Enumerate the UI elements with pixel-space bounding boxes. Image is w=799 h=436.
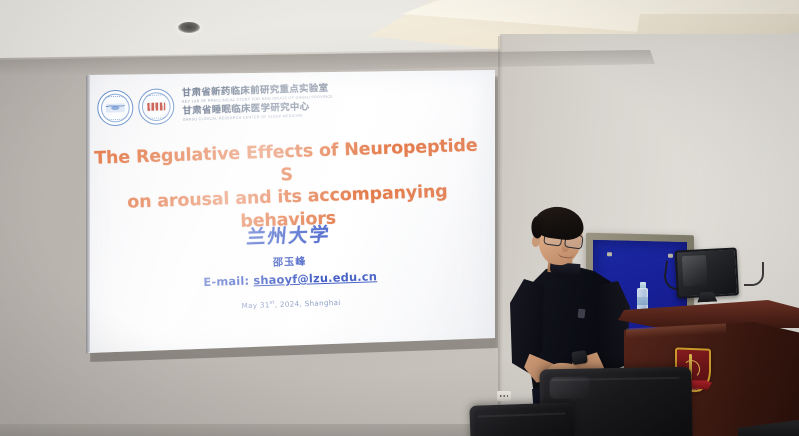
chair-backrest: [469, 402, 574, 436]
board-clip-icon: [668, 254, 673, 258]
wall-socket-icon: [497, 391, 511, 401]
monitor-glare: [682, 255, 708, 286]
shirt-chest-logo: [578, 309, 586, 319]
venue-date-rest: , 2024, Shanghai: [275, 298, 341, 309]
recessed-downlight-icon: [178, 22, 200, 33]
screen-surface: 甘肃省新药临床前研究重点实验室 KEY LAB OF PRECLINICAL S…: [86, 70, 496, 358]
email-address: shaoyf@lzu.edu.cn: [253, 269, 377, 287]
slide-venue-date: May 31st, 2024, Shanghai: [94, 292, 488, 315]
slide-header: 甘肃省新药临床前研究重点实验室 KEY LAB OF PRECLINICAL S…: [97, 79, 338, 129]
slide-content: 甘肃省新药临床前研究重点实验室 KEY LAB OF PRECLINICAL S…: [86, 56, 506, 358]
research-center-seal-icon: [138, 88, 175, 125]
floor: [0, 424, 520, 436]
projection-screen: 甘肃省新药临床前研究重点实验室 KEY LAB OF PRECLINICAL S…: [86, 70, 498, 360]
screen-left-edge: [86, 74, 90, 354]
venue-date-day: May 31: [241, 300, 269, 310]
presentation-room-photo: 甘肃省新药临床前研究重点实验室 KEY LAB OF PRECLINICAL S…: [0, 0, 799, 436]
monitor-screen: [675, 247, 739, 298]
podium-monitor-icon: [675, 247, 740, 306]
university-seal-icon: [97, 89, 134, 126]
slide-header-text: 甘肃省新药临床前研究重点实验室 KEY LAB OF PRECLINICAL S…: [179, 84, 334, 123]
wall-corner: [498, 36, 503, 428]
presenter-hair: [532, 204, 586, 242]
email-label: E-mail:: [203, 274, 249, 290]
wristwatch-icon: [571, 350, 588, 365]
